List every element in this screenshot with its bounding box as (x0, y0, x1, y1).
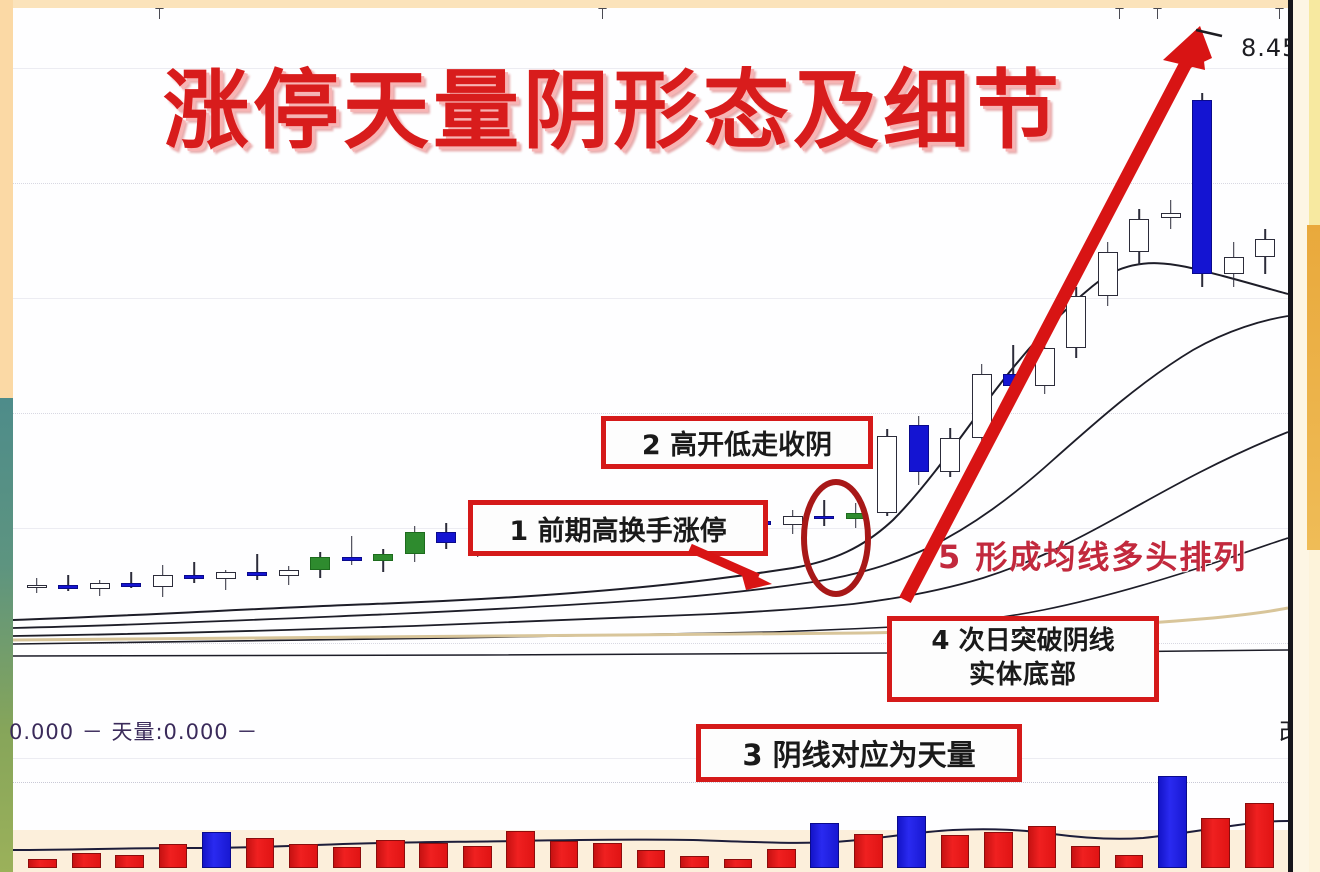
volume-bar (1245, 803, 1274, 868)
annotation-4-line2: 实体底部 (969, 659, 1077, 693)
annotation-5-text: 5 形成均线多头排列 (938, 532, 1247, 578)
volume-bar (463, 846, 492, 868)
candle-body (1003, 374, 1023, 387)
candle-wick (193, 562, 195, 583)
volume-bar (506, 831, 535, 868)
candle-body (1098, 252, 1118, 296)
volume-bar (246, 838, 275, 868)
volume-bar (593, 843, 622, 868)
volume-bar (115, 855, 144, 868)
candlestick (1129, 8, 1149, 708)
volume-bar (28, 859, 57, 868)
candle-body (342, 557, 362, 561)
volume-bar (419, 843, 448, 868)
volume-bar (72, 853, 101, 868)
candlestick (121, 8, 141, 708)
candle-body (216, 572, 236, 578)
candle-body (1129, 219, 1149, 253)
annotation-4-line1: 4 次日突破阴线 (931, 625, 1114, 659)
candle-wick (1012, 345, 1014, 397)
candle-body (184, 575, 204, 579)
annotation-2-text: 2 高开低走收阴 (642, 423, 832, 462)
candle-body (153, 575, 173, 587)
volume-bar (333, 847, 362, 868)
annotation-1-box: 1 前期高换手涨停 (468, 500, 768, 556)
volume-panel (13, 768, 1288, 872)
candle-body (1066, 296, 1086, 348)
volume-bar (984, 832, 1013, 868)
candle-body (373, 554, 393, 560)
volume-bar (159, 844, 188, 868)
candlestick (1161, 8, 1181, 708)
volume-bar (637, 850, 666, 868)
volume-bar (897, 816, 926, 868)
volume-bar (1071, 846, 1100, 868)
annotation-3-box: 3 阴线对应为天量 (696, 724, 1022, 782)
candle-body (909, 425, 929, 472)
chart-surface: 涨停天量阴形态及细节 0.000 － 天量:0.000 － 8.45 改 1 前… (13, 8, 1288, 872)
candle-wick (382, 549, 384, 572)
candlestick (58, 8, 78, 708)
page-title: 涨停天量阴形态及细节 (163, 56, 1063, 166)
gridline (13, 183, 1288, 185)
candle-body (1161, 213, 1181, 218)
candle-body (1035, 348, 1055, 387)
volume-bar (550, 841, 579, 868)
candle-body (1224, 257, 1244, 274)
candle-wick (823, 500, 825, 526)
left-border-lower (0, 398, 13, 872)
candle-body (310, 557, 330, 570)
volume-bar (941, 835, 970, 868)
status-readout: 0.000 － 天量:0.000 － (9, 716, 258, 746)
right-border-cream-bottom (1309, 550, 1320, 872)
candle-body (783, 516, 803, 525)
candle-wick (256, 554, 258, 580)
candle-body (940, 438, 960, 472)
left-border-upper (0, 0, 13, 398)
candle-body (405, 532, 425, 554)
stock-chart-page: 涨停天量阴形态及细节 0.000 － 天量:0.000 － 8.45 改 1 前… (0, 0, 1320, 872)
candle-body (58, 585, 78, 589)
candle-body (1192, 100, 1212, 274)
candle-body (27, 585, 47, 588)
volume-bar (854, 834, 883, 868)
candle-body (972, 374, 992, 439)
volume-bar (1028, 826, 1057, 868)
candle-body (90, 583, 110, 589)
volume-bar (724, 859, 753, 868)
volume-bar (376, 840, 405, 868)
volume-bar (767, 849, 796, 868)
candle-body (814, 516, 834, 520)
volume-bar (202, 832, 231, 868)
annotation-2-box: 2 高开低走收阴 (601, 416, 873, 469)
candlestick (1255, 8, 1275, 708)
candlestick (90, 8, 110, 708)
candle-body (121, 583, 141, 587)
candle-body (846, 513, 866, 519)
volume-bar (680, 856, 709, 868)
gridline (13, 758, 1288, 759)
gridline (13, 298, 1288, 299)
annotation-4-box: 4 次日突破阴线 实体底部 (887, 616, 1159, 702)
volume-bar (1201, 818, 1230, 868)
gridline (13, 413, 1288, 415)
candle-body (247, 572, 267, 576)
right-border-yellow-top (1309, 0, 1320, 225)
volume-bar (1158, 776, 1187, 868)
candlestick (1098, 8, 1118, 708)
top-border-strip (0, 0, 1320, 8)
annotation-3-text: 3 阴线对应为天量 (742, 732, 975, 774)
candle-body (1255, 239, 1275, 257)
candle-body (436, 532, 456, 542)
axis-tick-icon (1275, 8, 1284, 19)
candle-body (279, 570, 299, 576)
candlestick (1192, 8, 1212, 708)
volume-bar (810, 823, 839, 868)
annotation-1-text: 1 前期高换手涨停 (509, 509, 726, 548)
candlestick (27, 8, 47, 708)
volume-bar (1115, 855, 1144, 868)
candlestick (1066, 8, 1086, 708)
volume-bar (289, 844, 318, 868)
candlestick (1224, 8, 1244, 708)
candle-body (877, 436, 897, 514)
right-border-orange (1307, 225, 1320, 550)
